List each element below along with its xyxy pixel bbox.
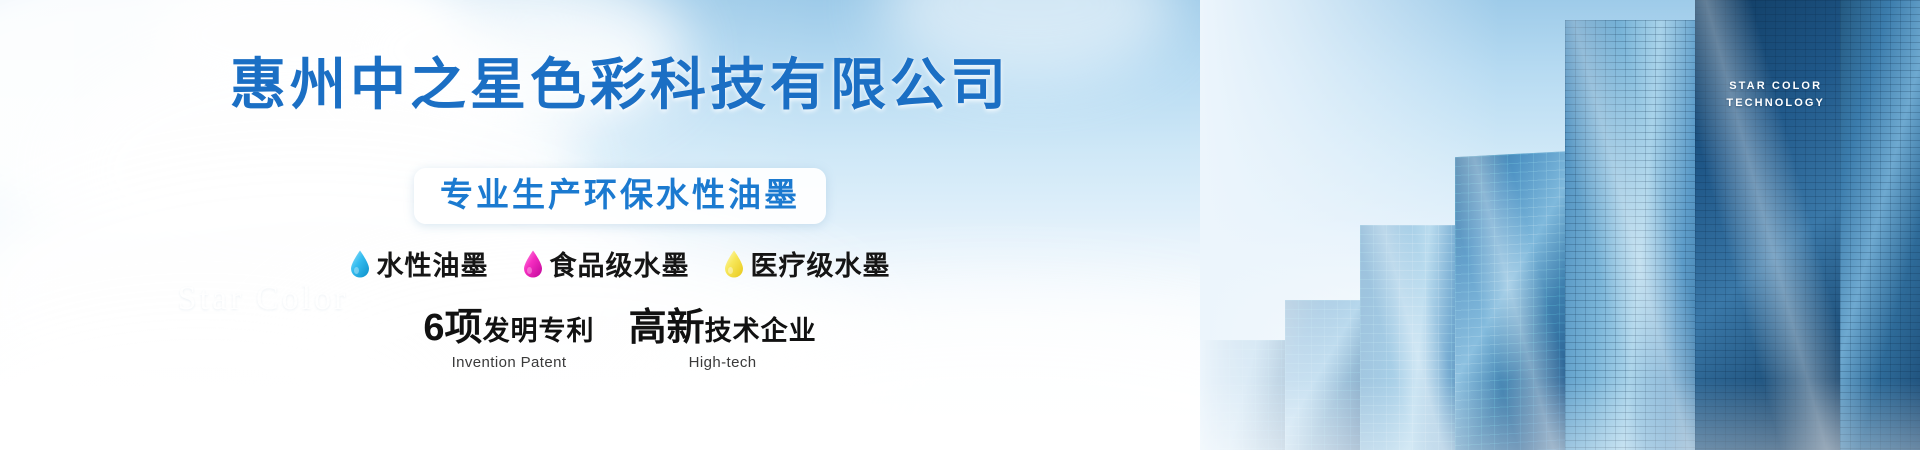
- droplet-icon-yellow: [724, 250, 744, 278]
- product-item-water-based-ink: 水性油墨: [350, 244, 489, 283]
- banner-content: 惠州中之星色彩科技有限公司 专业生产环保水性油墨 水性油: [0, 0, 1240, 450]
- company-title: 惠州中之星色彩科技有限公司: [230, 54, 1010, 117]
- droplet-icon-cyan: [350, 250, 370, 278]
- building-brand-line-1: STAR COLOR: [1726, 78, 1825, 95]
- credential-text: 技术企业: [705, 318, 817, 345]
- skyline-bottom-fade: [1200, 380, 1920, 450]
- credential-main: 高新 技术企业: [629, 309, 817, 347]
- credential-highlight: 6项: [423, 309, 482, 347]
- credential-main: 6项 发明专利: [423, 309, 594, 347]
- tagline-pill: 专业生产环保水性油墨: [414, 168, 826, 224]
- credential-list: 6项 发明专利 Invention Patent 高新 技术企业 High-te…: [423, 309, 816, 371]
- credential-item-patents: 6项 发明专利 Invention Patent: [423, 309, 594, 371]
- tagline-text: 专业生产环保水性油墨: [440, 175, 800, 215]
- hero-banner: Star Color STAR COLOR TECHNOLOGY 惠州中之星色彩…: [0, 0, 1920, 450]
- product-label: 医疗级水墨: [751, 244, 891, 283]
- credential-item-hightech: 高新 技术企业 High-tech: [629, 309, 817, 371]
- building-brand-line-2: TECHNOLOGY: [1726, 95, 1825, 112]
- product-item-food-grade-ink: 食品级水墨: [523, 244, 690, 283]
- building-brand-label: STAR COLOR TECHNOLOGY: [1726, 78, 1825, 111]
- product-label: 水性油墨: [377, 244, 489, 283]
- credential-english: Invention Patent: [452, 354, 567, 371]
- product-label: 食品级水墨: [550, 244, 690, 283]
- credential-highlight: 高新: [629, 309, 705, 347]
- skyline-photo: [1200, 0, 1920, 450]
- droplet-icon-magenta: [523, 250, 543, 278]
- product-item-medical-grade-ink: 医疗级水墨: [724, 244, 891, 283]
- credential-english: High-tech: [689, 354, 757, 371]
- product-list: 水性油墨 食品级水墨: [350, 244, 891, 283]
- credential-text: 发明专利: [483, 318, 595, 345]
